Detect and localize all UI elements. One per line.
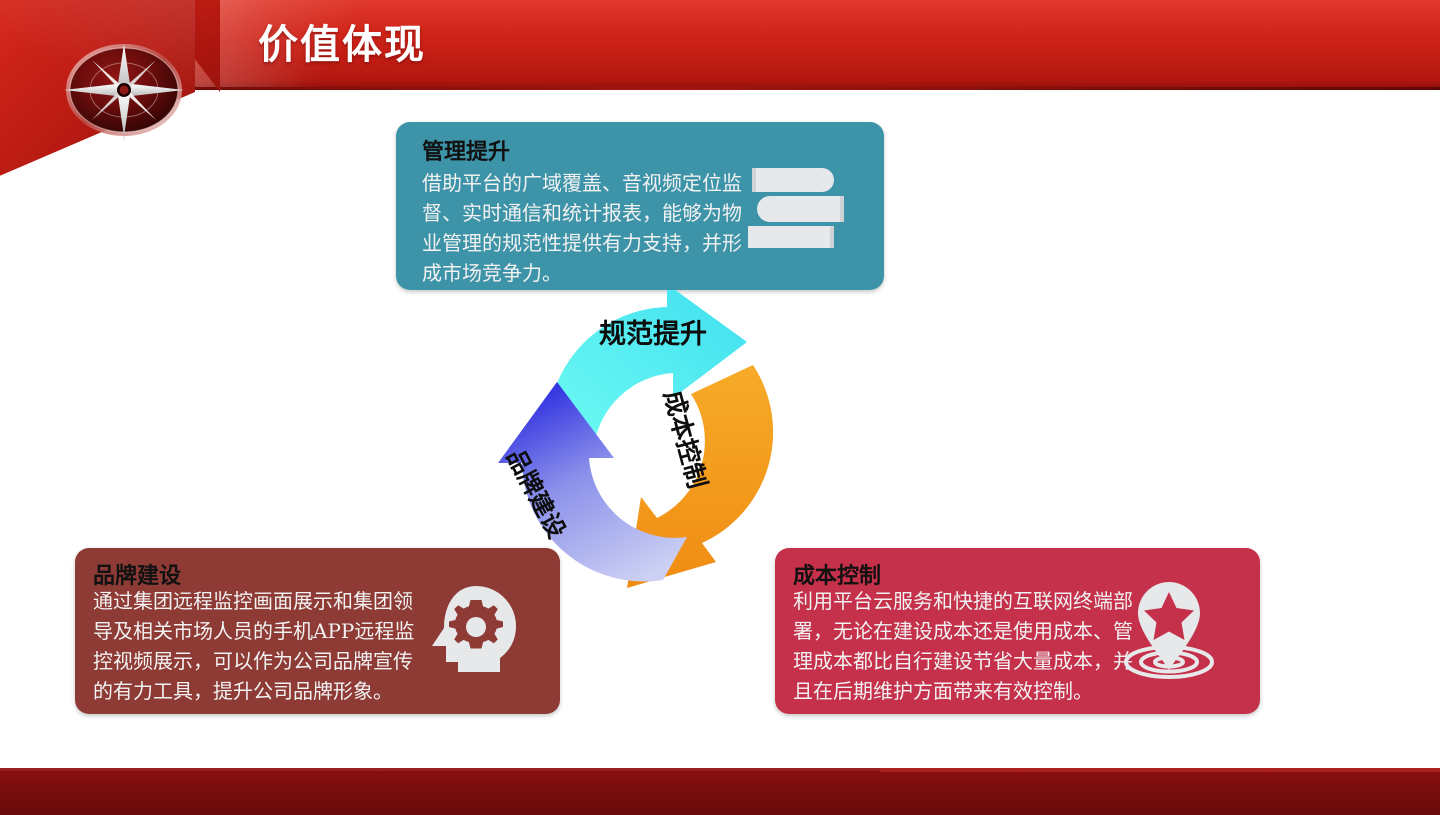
card-management-title: 管理提升: [422, 134, 510, 166]
cycle-label-top: 规范提升: [599, 312, 707, 351]
slide-canvas: 价值体现 管理提升 借助平台的广域覆盖、音视频定位监督、实时通信和统计报表，能够…: [0, 0, 1440, 815]
cycle-diagram: 规范提升 成本控制 品牌建设: [495, 290, 825, 602]
card-cost[interactable]: 成本控制 利用平台云服务和快捷的互联网终端部署，无论在建设成本还是使用成本、管理…: [775, 548, 1260, 714]
card-cost-body: 利用平台云服务和快捷的互联网终端部署，无论在建设成本还是使用成本、管理成本都比自…: [793, 586, 1133, 706]
footer-bar: [0, 768, 1440, 815]
stacked-books-icon: [748, 166, 848, 248]
card-management-body: 借助平台的广域覆盖、音视频定位监督、实时通信和统计报表，能够为物业管理的规范性提…: [422, 168, 752, 288]
card-brand-body: 通过集团远程监控画面展示和集团领导及相关市场人员的手机APP远程监控视频展示，可…: [93, 586, 423, 706]
page-title: 价值体现: [258, 14, 426, 76]
map-pin-star-icon: [1114, 580, 1224, 684]
compass-rose-icon: [62, 40, 186, 140]
card-management[interactable]: 管理提升 借助平台的广域覆盖、音视频定位监督、实时通信和统计报表，能够为物业管理…: [396, 122, 884, 290]
card-brand[interactable]: 品牌建设 通过集团远程监控画面展示和集团领导及相关市场人员的手机APP远程监控视…: [75, 548, 560, 714]
